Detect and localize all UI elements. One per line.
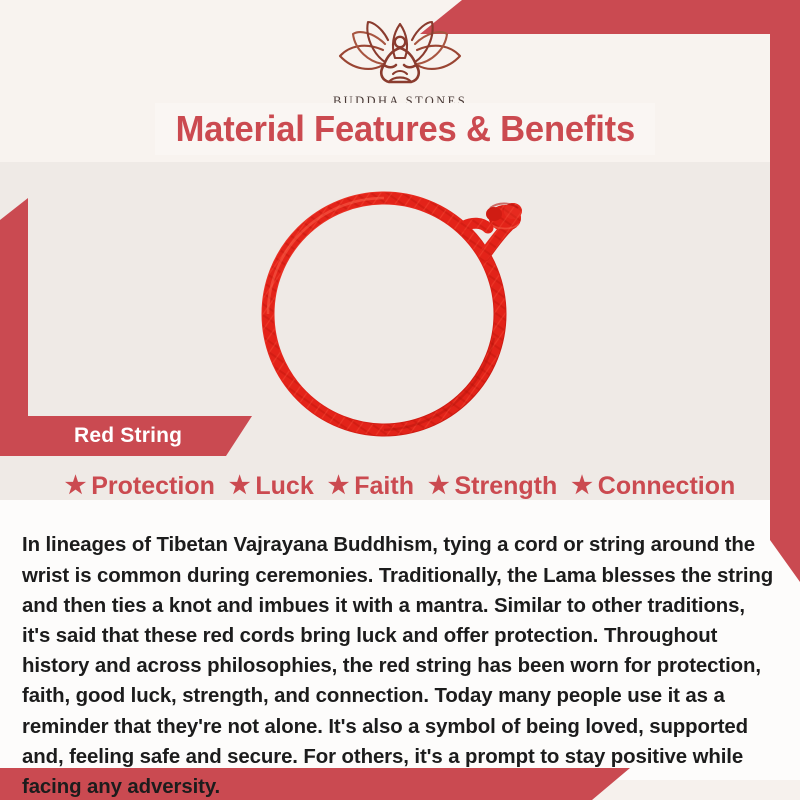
benefits-list: ★ Protection ★ Luck ★ Faith ★ Strength ★… [0, 466, 800, 506]
product-feature-poster: BUDDHA STONES Material Features & Benefi… [0, 0, 800, 800]
benefit-item-faith: ★ Faith [321, 472, 421, 501]
decor-left-vertical-bar [0, 198, 28, 443]
star-icon: ★ [229, 474, 251, 498]
benefit-label: Luck [255, 472, 313, 501]
benefit-label: Faith [354, 472, 414, 501]
benefit-label: Protection [91, 472, 215, 501]
section-ribbon: Red String [0, 416, 252, 456]
lotus-meditation-figure-icon [325, 18, 475, 90]
description-paragraph: In lineages of Tibetan Vajrayana Buddhis… [22, 530, 774, 800]
brand-logo: BUDDHA STONES [0, 18, 800, 109]
title-banner: Material Features & Benefits [155, 103, 655, 155]
benefit-item-connection: ★ Connection [564, 472, 742, 501]
benefit-item-luck: ★ Luck [222, 472, 321, 501]
benefit-label: Connection [598, 472, 736, 501]
star-icon: ★ [571, 474, 593, 498]
benefit-label: Strength [454, 472, 557, 501]
benefit-item-protection: ★ Protection [58, 472, 222, 501]
star-icon: ★ [428, 474, 450, 498]
benefit-item-strength: ★ Strength [421, 472, 564, 501]
star-icon: ★ [328, 474, 350, 498]
star-icon: ★ [65, 474, 87, 498]
page-title: Material Features & Benefits [175, 108, 634, 150]
section-ribbon-label: Red String [74, 424, 182, 448]
product-image [232, 178, 552, 440]
